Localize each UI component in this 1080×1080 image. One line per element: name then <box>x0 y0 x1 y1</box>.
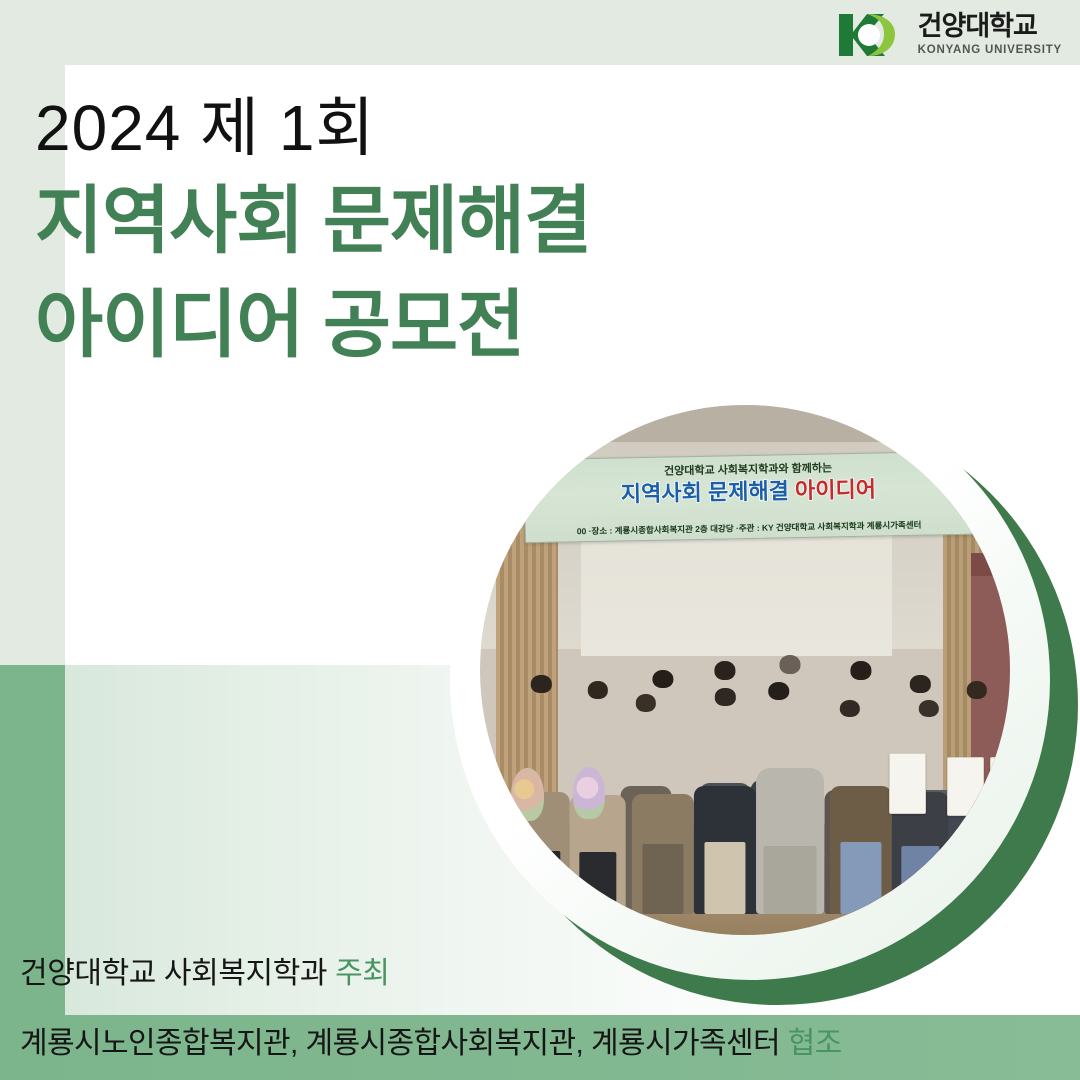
footer-line-1-accent: 주최 <box>335 957 389 990</box>
person-front-9 <box>1000 676 1010 913</box>
logo-name-ko: 건양대학교 <box>918 13 1062 40</box>
headline-line-2: 아이디어 공모전 <box>35 280 591 370</box>
footer-block: 건양대학교 사회복지학과 주최 계룡시노인종합복지관, 계룡시종합사회복지관, … <box>20 948 1000 1062</box>
banner-line-2-part2: 아이디어 <box>795 477 876 504</box>
banner-line-3: 00 ·장소 : 계룡시종합사회복지관 2층 대강당 ·주관 : KY 건양대학… <box>526 518 973 539</box>
certificate-3 <box>990 757 1011 816</box>
footer-line-1: 건양대학교 사회복지학과 주최 <box>20 948 1000 992</box>
headline-line-1: 지역사회 문제해결 <box>35 176 591 266</box>
footer-line-2: 계룡시노인종합복지관, 계룡시종합사회복지관, 계룡시가족센터 협조 <box>20 1018 1000 1062</box>
poster-root: 건양대학교 KONYANG UNIVERSITY 2024 제 1회 지역사회 … <box>0 0 1080 1080</box>
footer-line-2-accent: 협조 <box>788 1027 842 1060</box>
person-front-7 <box>892 670 949 913</box>
banner-line-2: 지역사회 문제해결 아이디어 <box>525 477 972 508</box>
person-front-4 <box>694 659 756 914</box>
person-front-1 <box>513 670 570 913</box>
person-front-6 <box>830 659 892 914</box>
headline-block: 2024 제 1회 지역사회 문제해결 아이디어 공모전 <box>35 95 591 371</box>
person-front-2 <box>570 676 627 913</box>
footer-line-2-text: 계룡시노인종합복지관, 계룡시종합사회복지관, 계룡시가족센터 <box>20 1027 780 1060</box>
certificate-1 <box>889 753 926 813</box>
bouquet-mid <box>573 767 605 819</box>
photo-people-group <box>480 617 1010 914</box>
event-photo-scene: 건양대학교 사회복지학과와 함께하는 지역사회 문제해결 아이디어 00 ·장소… <box>480 405 1010 935</box>
photo-event-banner: 건양대학교 사회복지학과와 함께하는 지역사회 문제해결 아이디어 00 ·장소… <box>523 451 974 544</box>
bouquet-left <box>511 768 544 822</box>
logo-text-block: 건양대학교 KONYANG UNIVERSITY <box>918 13 1062 57</box>
person-front-3 <box>632 665 694 914</box>
ky-monogram-icon <box>837 10 905 60</box>
event-photo: 건양대학교 사회복지학과와 함께하는 지역사회 문제해결 아이디어 00 ·장소… <box>480 405 1010 935</box>
logo-name-en: KONYANG UNIVERSITY <box>918 45 1062 57</box>
person-front-5-monk <box>756 653 824 914</box>
footer-line-1-text: 건양대학교 사회복지학과 <box>20 957 327 990</box>
headline-year: 2024 제 1회 <box>35 95 591 162</box>
university-logo: 건양대학교 KONYANG UNIVERSITY <box>837 10 1062 60</box>
banner-line-2-part1: 지역사회 문제해결 <box>621 478 789 506</box>
certificate-2 <box>947 757 984 816</box>
photo-ceiling <box>480 405 1010 442</box>
